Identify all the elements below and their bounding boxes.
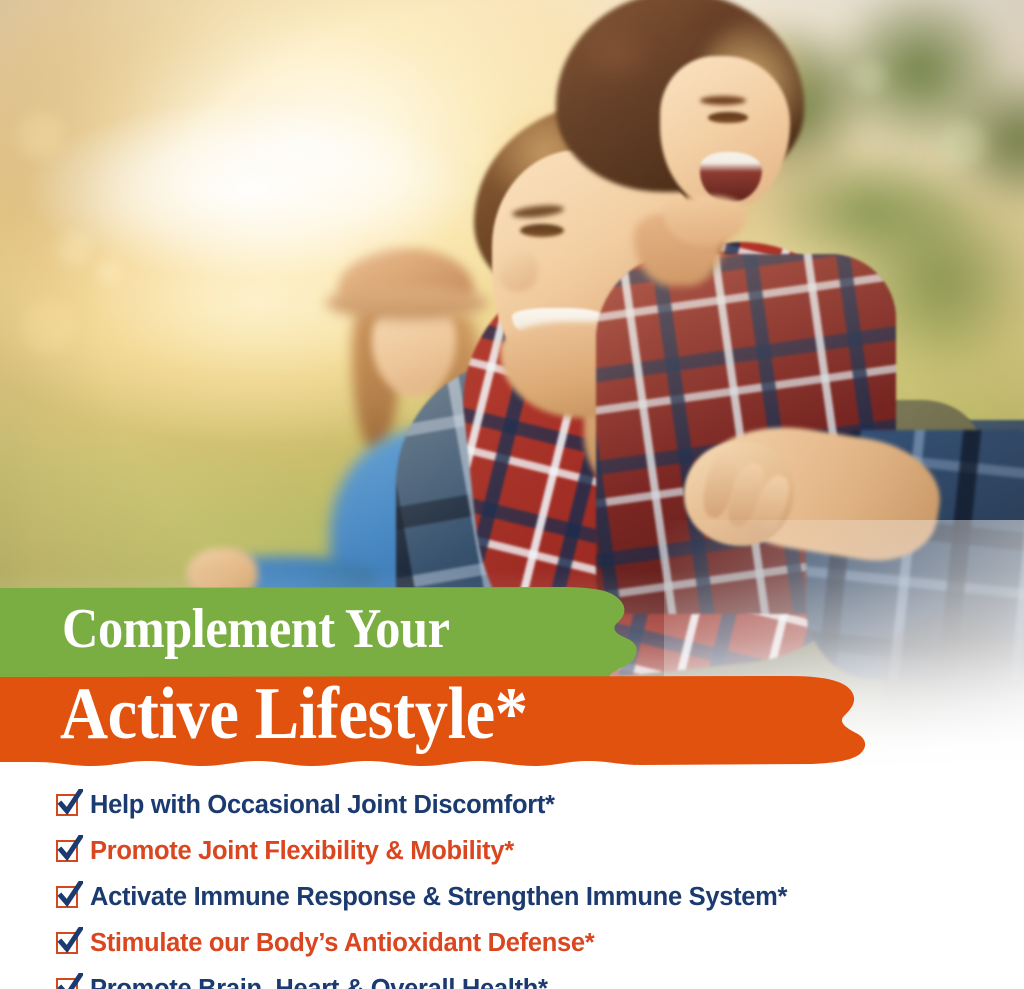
checkbox-checked-icon xyxy=(56,932,78,954)
checkbox-checked-icon xyxy=(56,794,78,816)
benefits-list: Help with Occasional Joint Discomfort* P… xyxy=(56,782,996,989)
checkbox-checked-icon xyxy=(56,978,78,989)
checkmark-icon xyxy=(57,835,83,863)
benefit-text: Promote Joint Flexibility & Mobility* xyxy=(90,837,514,866)
headline-line-2: Active Lifestyle* xyxy=(60,668,528,760)
list-item: Promote Brain, Heart & Overall Health* xyxy=(56,966,996,989)
checkmark-icon xyxy=(57,789,83,817)
benefit-text: Help with Occasional Joint Discomfort* xyxy=(90,791,555,820)
promo-page: Complement Your Active Lifestyle* Help w… xyxy=(0,0,1024,989)
headline-banners: Complement Your Active Lifestyle* xyxy=(0,584,1024,774)
checkmark-icon xyxy=(57,927,83,955)
checkbox-checked-icon xyxy=(56,886,78,908)
benefit-text: Activate Immune Response & Strengthen Im… xyxy=(90,883,787,912)
list-item: Stimulate our Body’s Antioxidant Defense… xyxy=(56,920,996,966)
headline-line-1: Complement Your xyxy=(62,594,450,664)
checkbox-checked-icon xyxy=(56,840,78,862)
benefit-text: Stimulate our Body’s Antioxidant Defense… xyxy=(90,929,594,958)
list-item: Activate Immune Response & Strengthen Im… xyxy=(56,874,996,920)
list-item: Promote Joint Flexibility & Mobility* xyxy=(56,828,996,874)
checkmark-icon xyxy=(57,881,83,909)
checkmark-icon xyxy=(57,973,83,989)
benefit-text: Promote Brain, Heart & Overall Health* xyxy=(90,975,548,989)
list-item: Help with Occasional Joint Discomfort* xyxy=(56,782,996,828)
